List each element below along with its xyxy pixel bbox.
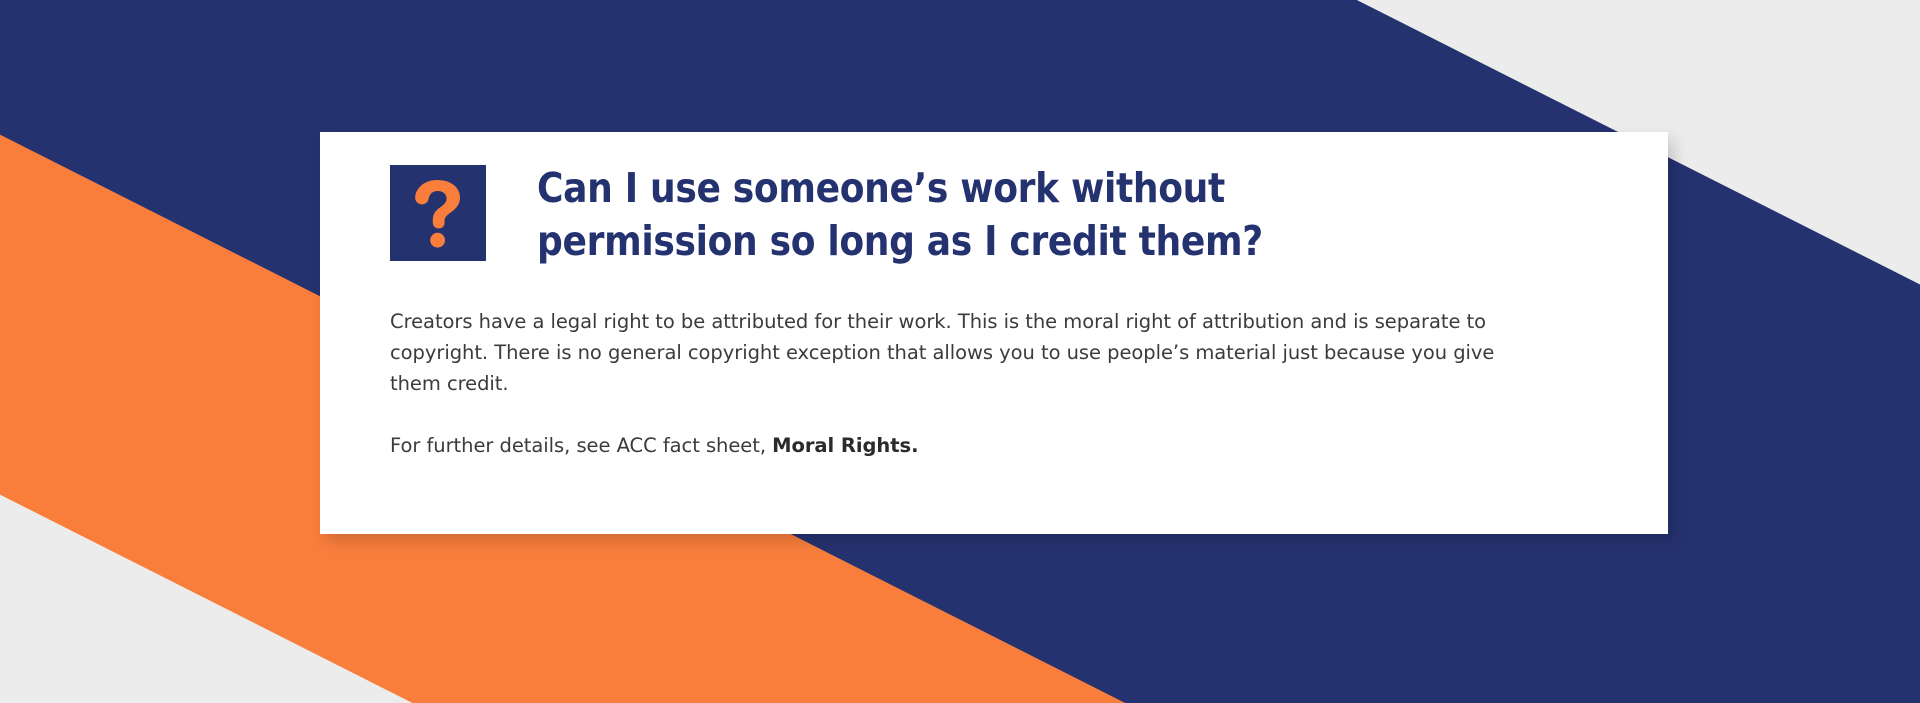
- faq-header-row: Can I use someone’s work without permiss…: [390, 132, 1628, 268]
- faq-footer-lead: For further details, see ACC fact sheet,: [390, 434, 772, 457]
- fact-sheet-reference: Moral Rights.: [772, 434, 918, 457]
- faq-paragraph: Creators have a legal right to be attrib…: [390, 306, 1520, 399]
- page-title-line-1: Can I use someone’s work without: [537, 162, 1263, 215]
- page-stage: Can I use someone’s work without permiss…: [0, 0, 1920, 703]
- question-mark-icon: [390, 165, 486, 261]
- faq-card-content: Can I use someone’s work without permiss…: [390, 132, 1628, 534]
- page-title: Can I use someone’s work without permiss…: [486, 162, 1263, 268]
- faq-card: Can I use someone’s work without permiss…: [320, 132, 1668, 534]
- faq-footer-line: For further details, see ACC fact sheet,…: [390, 430, 1520, 461]
- page-title-line-2: permission so long as I credit them?: [537, 215, 1263, 268]
- faq-body: Creators have a legal right to be attrib…: [390, 268, 1520, 461]
